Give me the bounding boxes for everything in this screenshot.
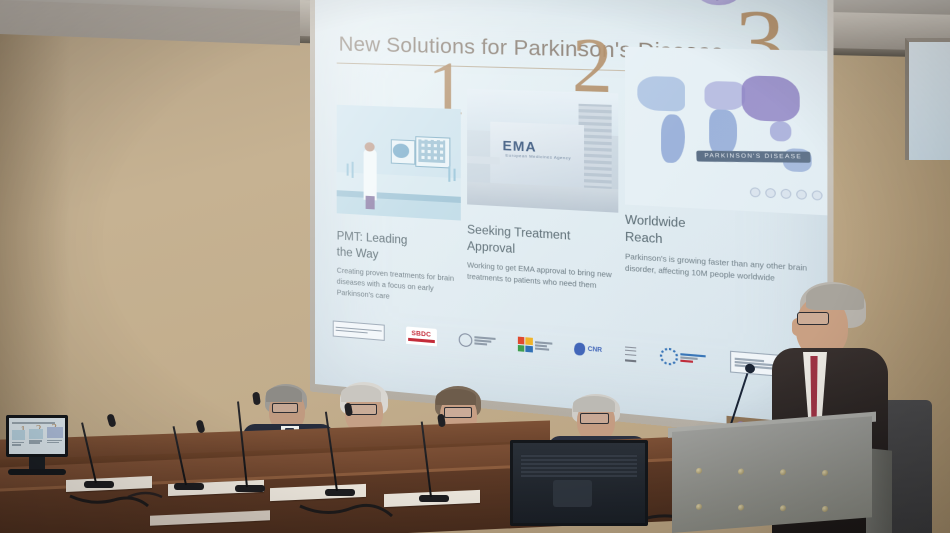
partner-logo-university-seal (458, 330, 495, 352)
podium (672, 416, 872, 533)
column-body-2: Working to get EMA approval to bring new… (467, 260, 625, 294)
partner-logo-tower (625, 343, 636, 363)
presentation-photo-scene: New Solutions for Parkinson's Disease 1 … (0, 0, 950, 533)
partner-logo-gear-circle (660, 346, 706, 369)
brain-scan-icon (393, 143, 409, 158)
lab-illustration (337, 105, 461, 221)
confidence-monitor-slide: 1 2 3 (9, 418, 65, 454)
ema-building-photo: EMA European Medicines Agency (467, 89, 618, 213)
column-body-3: Parkinson's is growing faster than any o… (625, 251, 820, 287)
column-heading-2: Seeking Treatment Approval (467, 223, 618, 265)
speaker-glasses (797, 312, 829, 325)
partner-logo-colored-quad (517, 334, 551, 356)
column-heading-1: PMT: Leading the Way (337, 229, 459, 269)
cnr-label: CNR (588, 347, 602, 355)
confidence-monitor: 1 2 3 (6, 415, 68, 457)
column-image-2: EMA European Medicines Agency (467, 89, 618, 213)
column-image-3: PARKINSON'S DISEASE (625, 47, 827, 216)
column-image-1 (337, 105, 461, 221)
map-label-parkinsons-disease: PARKINSON'S DISEASE (696, 151, 810, 163)
column-body-1: Creating proven treatments for brain dis… (337, 266, 461, 308)
map-legend (749, 187, 822, 201)
world-map-graphic: PARKINSON'S DISEASE (625, 47, 827, 216)
partner-logo-sbdc: SBDC (406, 325, 437, 346)
partner-logo-boxed-text (333, 319, 385, 342)
window (905, 38, 950, 160)
slide-logo-row: SBDC CNR (333, 315, 813, 383)
partner-logo-cnr: CNR (575, 339, 603, 360)
panelist-monitor (510, 440, 648, 526)
column-heading-3: Worldwide Reach (625, 213, 799, 257)
